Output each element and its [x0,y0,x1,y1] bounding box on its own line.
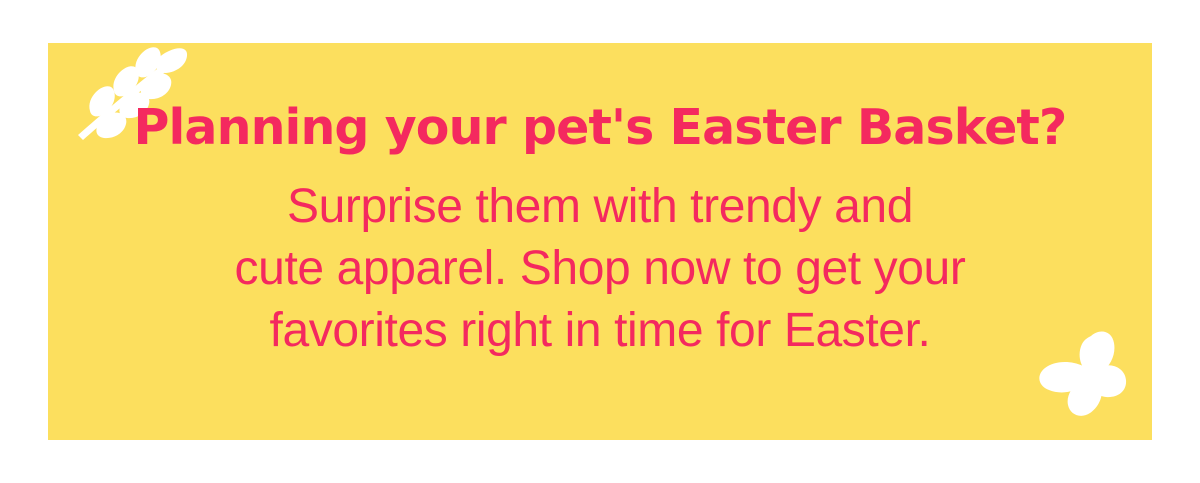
banner-subcopy: Surprise them with trendy and cute appar… [235,156,966,362]
copy-line: cute apparel. Shop now to get your [235,238,966,300]
copy-line: favorites right in time for Easter. [235,300,966,362]
banner-panel: Planning your pet's Easter Basket? Surpr… [48,43,1152,440]
page-title: Planning your pet's Easter Basket? [134,101,1067,156]
banner-copy: Planning your pet's Easter Basket? Surpr… [48,43,1152,440]
copy-line: Surprise them with trendy and [235,176,966,238]
promo-banner: Planning your pet's Easter Basket? Surpr… [0,0,1200,483]
